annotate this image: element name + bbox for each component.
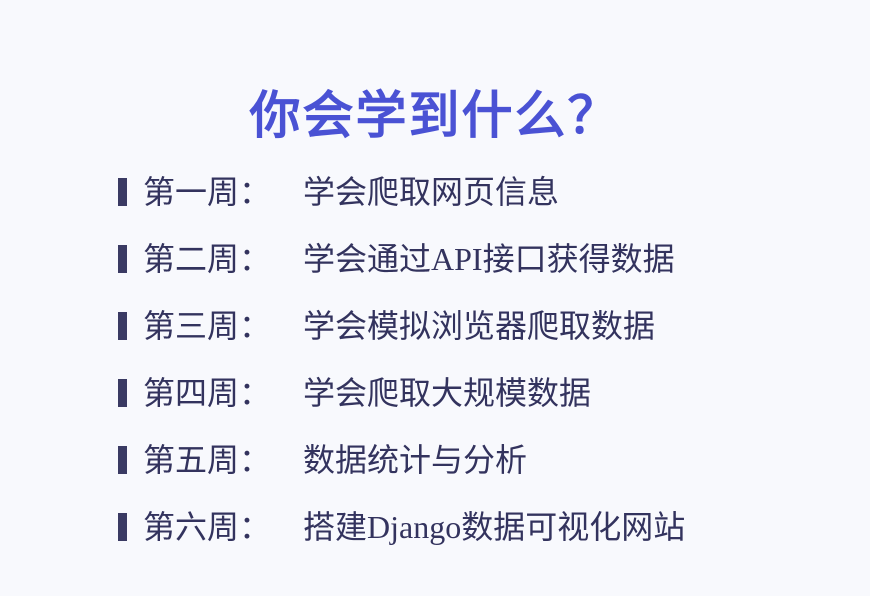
list-item: 第二周： 学会通过API接口获得数据 (118, 225, 858, 292)
week-topic: 学会爬取网页信息 (303, 176, 858, 208)
bullet-bar-icon (118, 178, 127, 206)
bullet-bar-icon (118, 513, 127, 541)
bullet-bar-icon (118, 245, 127, 273)
week-topic: 数据统计与分析 (303, 444, 858, 476)
bullet-bar-icon (118, 312, 127, 340)
list-item: 第五周： 数据统计与分析 (118, 426, 858, 493)
week-label: 第五周： (143, 444, 303, 476)
week-topic: 学会爬取大规模数据 (303, 377, 858, 409)
week-label: 第六周： (143, 511, 303, 543)
week-label: 第二周： (143, 243, 303, 275)
bullet-bar-icon (118, 379, 127, 407)
week-label: 第一周： (143, 176, 303, 208)
slide-canvas: 你会学到什么？ 第一周： 学会爬取网页信息 第二周： 学会通过API接口获得数据… (0, 0, 870, 596)
week-topic: 学会通过API接口获得数据 (303, 243, 858, 275)
week-topic: 搭建Django数据可视化网站 (303, 511, 858, 543)
page-title: 你会学到什么？ (249, 86, 620, 146)
list-item: 第三周： 学会模拟浏览器爬取数据 (118, 292, 858, 359)
list-item: 第四周： 学会爬取大规模数据 (118, 359, 858, 426)
week-label: 第三周： (143, 310, 303, 342)
bullet-bar-icon (118, 446, 127, 474)
week-topic: 学会模拟浏览器爬取数据 (303, 310, 858, 342)
list-item: 第一周： 学会爬取网页信息 (118, 158, 858, 225)
week-label: 第四周： (143, 377, 303, 409)
curriculum-list: 第一周： 学会爬取网页信息 第二周： 学会通过API接口获得数据 第三周： 学会… (118, 158, 858, 560)
list-item: 第六周： 搭建Django数据可视化网站 (118, 493, 858, 560)
